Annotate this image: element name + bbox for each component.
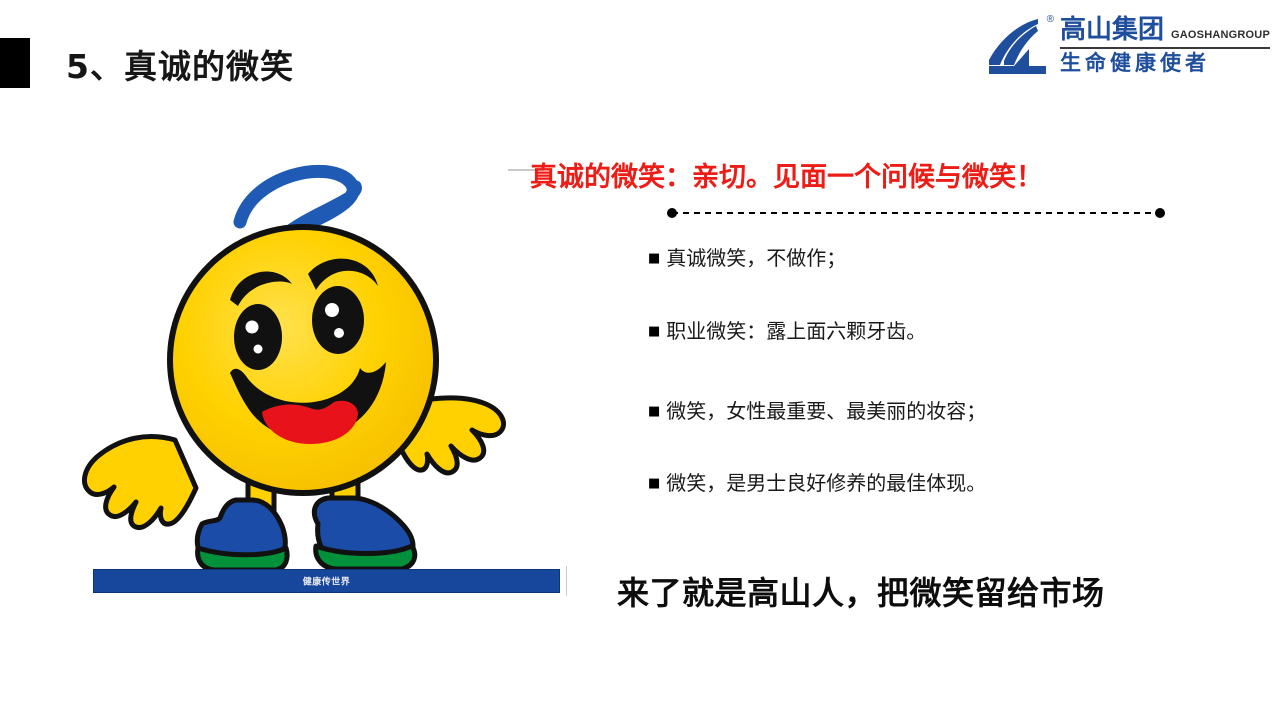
spacer (648, 421, 1188, 473)
list-item-text: 职业微笑：露上面六颗牙齿。 (666, 321, 926, 341)
stage-edge-tick (566, 566, 567, 596)
list-item-text: 真诚微笑，不做作； (666, 248, 846, 268)
square-bullet-icon: ■ (648, 477, 660, 490)
list-item: ■ 微笑，女性最重要、最美丽的妆容； (648, 401, 1188, 421)
logo-text-block: 高山集团 GAOSHANGROUP 生命健康使者 (1060, 17, 1270, 75)
dashed-divider (666, 207, 1166, 219)
stage-banner: 健康传世界 (93, 569, 560, 593)
page-title: 5、真诚的微笑 (66, 40, 294, 88)
square-bullet-icon: ■ (648, 405, 660, 418)
slide-header: 5、真诚的微笑 ® 高山集团 GAOSHANGROUP 生命健康使者 (0, 0, 1280, 100)
list-item-text: 微笑，是男士良好修养的最佳体现。 (666, 473, 986, 493)
list-item: ■ 职业微笑：露上面六颗牙齿。 (648, 321, 1188, 341)
company-name-en: GAOSHANGROUP (1171, 29, 1270, 44)
stage-banner-text: 健康传世界 (303, 575, 351, 588)
bullet-list: ■ 真诚微笑，不做作； ■ 职业微笑：露上面六颗牙齿。 ■ 微笑，女性最重要、最… (648, 248, 1188, 493)
company-tagline: 生命健康使者 (1060, 52, 1270, 75)
logo-divider (1060, 47, 1270, 49)
bottom-slogan: 来了就是高山人，把微笑留给市场 (617, 568, 1105, 614)
section-headline: 真诚的微笑：亲切。见面一个问候与微笑！ (530, 155, 1043, 194)
slide-canvas: { "header": { "title": "5、真诚的微笑", "marke… (0, 0, 1280, 720)
spacer (648, 268, 1188, 321)
registered-trademark-icon: ® (1047, 15, 1054, 25)
square-bullet-icon: ■ (648, 252, 660, 265)
company-name-cn: 高山集团 (1060, 17, 1164, 44)
square-bullet-icon: ■ (648, 325, 660, 338)
mountain-logo-icon: ® (980, 13, 1052, 79)
title-accent-marker (0, 38, 30, 88)
smiling-mascot-illustration (70, 150, 590, 570)
list-item: ■ 真诚微笑，不做作； (648, 248, 1188, 268)
list-item: ■ 微笑，是男士良好修养的最佳体现。 (648, 473, 1188, 493)
brand-logo: ® 高山集团 GAOSHANGROUP 生命健康使者 (980, 6, 1270, 86)
spacer (648, 341, 1188, 401)
list-item-text: 微笑，女性最重要、最美丽的妆容； (666, 401, 986, 421)
